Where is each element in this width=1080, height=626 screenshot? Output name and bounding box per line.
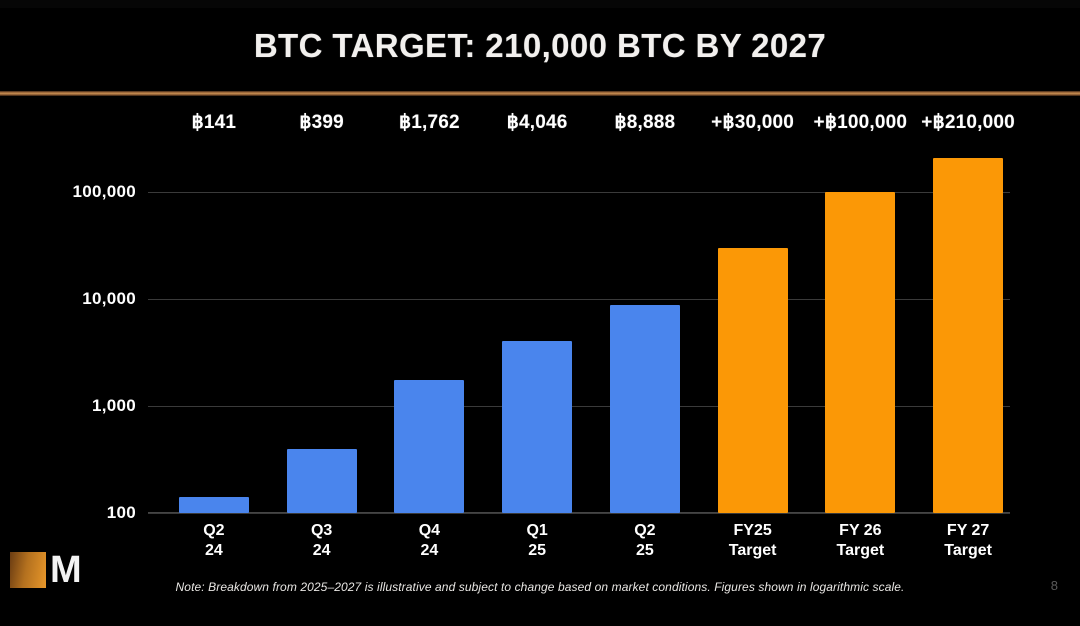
bar[interactable]: ฿141 (179, 497, 249, 513)
bar-value-label: ฿399 (299, 111, 344, 134)
bar-value-label: +฿210,000 (921, 111, 1015, 134)
bar-value-label: ฿4,046 (507, 111, 568, 134)
bar-group[interactable]: ฿8,888Q2 25 (610, 141, 680, 513)
bar-group[interactable]: ฿141Q2 24 (179, 141, 249, 513)
y-axis-tick-label: 100,000 (72, 182, 136, 202)
x-axis-category-label: Q1 25 (520, 521, 555, 561)
title-divider (0, 91, 1080, 96)
bar[interactable]: ฿1,762 (394, 380, 464, 513)
bar-group[interactable]: ฿399Q3 24 (287, 141, 357, 513)
y-axis-tick-label: 10,000 (82, 289, 136, 309)
chart-footnote: Note: Breakdown from 2025–2027 is illust… (0, 580, 1080, 594)
bar-value-label: +฿30,000 (711, 111, 794, 134)
page-title: BTC TARGET: 210,000 BTC BY 2027 (0, 27, 1080, 65)
x-axis-category-label: Q2 25 (627, 521, 662, 561)
bar[interactable]: +฿100,000 (825, 192, 895, 513)
bar-value-label: ฿8,888 (614, 111, 675, 134)
x-axis-category-label: FY 26 Target (837, 521, 885, 561)
page-number: 8 (1051, 578, 1058, 593)
bar[interactable]: ฿8,888 (610, 305, 680, 513)
slide-top-edge (0, 0, 1080, 8)
bar[interactable]: ฿399 (287, 449, 357, 513)
x-axis-category-label: Q2 24 (196, 521, 231, 561)
bar[interactable]: +฿210,000 (933, 158, 1003, 513)
bar-group[interactable]: ฿4,046Q1 25 (502, 141, 572, 513)
gridline (148, 513, 1010, 514)
bar-group[interactable]: +฿210,000FY 27 Target (933, 141, 1003, 513)
x-axis-category-label: FY 27 Target (944, 521, 992, 561)
bar-group[interactable]: ฿1,762Q4 24 (394, 141, 464, 513)
slide-canvas: BTC TARGET: 210,000 BTC BY 2027 100,0001… (0, 0, 1080, 626)
bar-group[interactable]: +฿100,000FY 26 Target (825, 141, 895, 513)
bar-group[interactable]: +฿30,000FY25 Target (718, 141, 788, 513)
x-axis-category-label: FY25 Target (729, 521, 777, 561)
x-axis-category-label: Q3 24 (304, 521, 339, 561)
bar[interactable]: ฿4,046 (502, 341, 572, 513)
bar-value-label: +฿100,000 (814, 111, 908, 134)
x-axis-category-label: Q4 24 (412, 521, 447, 561)
bar-chart: 100,00010,0001,000100฿141Q2 24฿399Q3 24฿… (0, 100, 1080, 570)
bar-value-label: ฿1,762 (399, 111, 460, 134)
bar[interactable]: +฿30,000 (718, 248, 788, 513)
y-axis-tick-label: 1,000 (92, 396, 136, 416)
bar-value-label: ฿141 (192, 111, 237, 134)
chart-plot-area: 100,00010,0001,000100฿141Q2 24฿399Q3 24฿… (148, 141, 1010, 513)
y-axis-tick-label: 100 (107, 503, 136, 523)
